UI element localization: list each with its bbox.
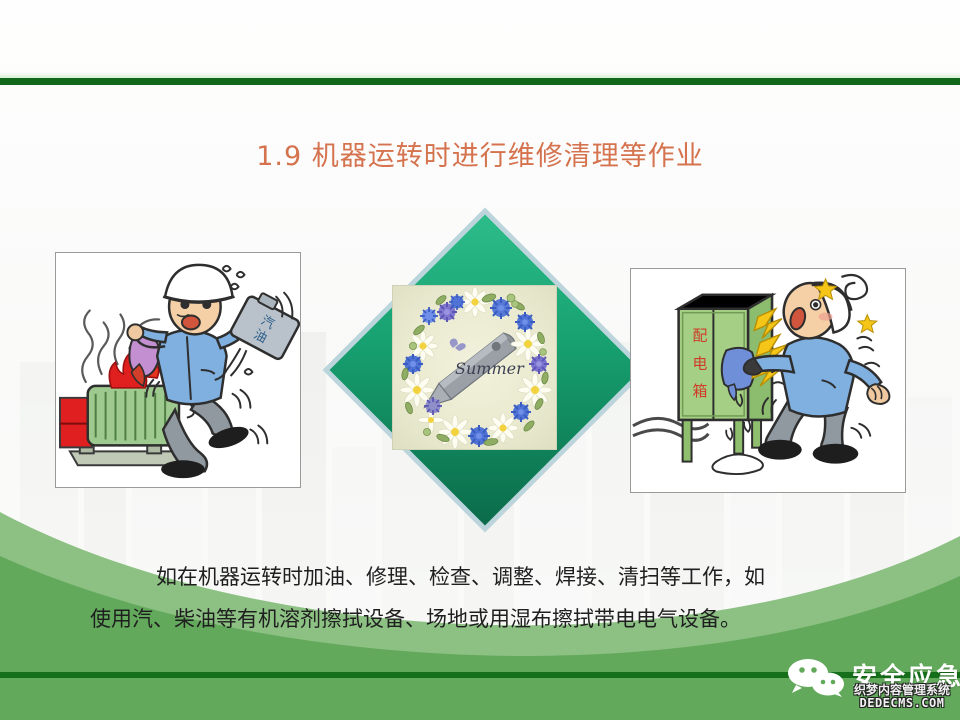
body-caption: 如在机器运转时加油、修理、检查、调整、焊接、清扫等工作，如 使用汽、柴油等有机溶… bbox=[90, 556, 870, 640]
left-image-frame: 汽 油 bbox=[55, 252, 301, 488]
watermark-en: DEDECMS.COM bbox=[844, 697, 960, 710]
watermark-cn: 织梦内容管理系统 bbox=[844, 684, 960, 697]
caption-line-2: 使用汽、柴油等有机溶剂擦拭设备、场地或用湿布擦拭带电电气设备。 bbox=[90, 598, 870, 640]
svg-text:电: 电 bbox=[693, 355, 708, 372]
slide-root: 1.9 机器运转时进行维修清理等作业 bbox=[0, 0, 960, 720]
page-title: 1.9 机器运转时进行维修清理等作业 bbox=[0, 134, 960, 173]
summer-wreath-image: Summer bbox=[392, 285, 557, 450]
wreath-caption: Summer bbox=[455, 359, 525, 378]
wechat-bubbles-icon bbox=[786, 659, 848, 697]
caption-line-1: 如在机器运转时加油、修理、检查、调整、焊接、清扫等工作，如 bbox=[90, 556, 870, 598]
burning-motor-gasoline-illustration: 汽 油 bbox=[56, 253, 300, 487]
wreath-art: Summer bbox=[393, 286, 556, 449]
dedecms-watermark: 织梦内容管理系统 DEDECMS.COM bbox=[844, 684, 960, 709]
electric-shock-distribution-box-illustration: 配 电 箱 bbox=[631, 269, 905, 492]
svg-text:箱: 箱 bbox=[693, 383, 708, 400]
svg-text:配: 配 bbox=[693, 327, 708, 344]
top-green-rule bbox=[0, 78, 960, 85]
